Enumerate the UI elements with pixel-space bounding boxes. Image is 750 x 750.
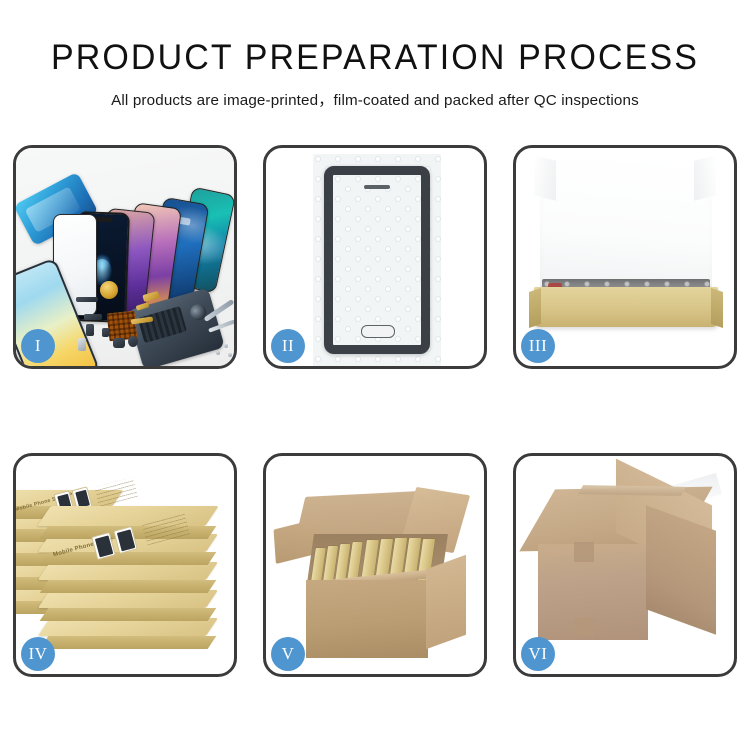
carton-hand-hole-top (574, 542, 594, 562)
screw-icon-1 (224, 344, 228, 348)
box-flap-right (694, 155, 716, 200)
carton-hand-hole-bottom (574, 618, 594, 636)
camera-module-icon (113, 338, 125, 348)
carton-front-face (306, 580, 428, 658)
process-step-panel-1[interactable]: I (13, 145, 237, 369)
step-badge-5: V (271, 637, 305, 671)
flex-cable-icon (76, 297, 98, 302)
screw-icon-3 (228, 353, 232, 357)
page-header: PRODUCT PREPARATION PROCESS All products… (0, 0, 750, 110)
carton-side-face (426, 555, 466, 650)
connector-icon-3 (102, 328, 109, 337)
process-step-panel-6[interactable]: VI (513, 453, 737, 677)
sim-tray-icon (78, 338, 86, 351)
process-step-panel-2[interactable]: II (263, 145, 487, 369)
vibrator-icon (128, 336, 138, 347)
process-step-grid: I II III (13, 145, 737, 677)
phone-screen-assembly-icon (324, 166, 430, 354)
step-badge-2: II (271, 329, 305, 363)
box-white-liner (540, 160, 712, 296)
step-badge-1: I (21, 329, 55, 363)
box-flap-left (534, 155, 556, 200)
page-title: PRODUCT PREPARATION PROCESS (11, 0, 739, 78)
connector-icon-1 (84, 314, 102, 320)
home-button-icon (361, 325, 395, 338)
speaker-coil-icon (100, 281, 118, 299)
step-badge-3: III (521, 329, 555, 363)
step-badge-4: IV (21, 637, 55, 671)
screw-icon-2 (216, 351, 220, 355)
process-step-panel-4[interactable]: Mobile Phone Spare Parts (13, 453, 237, 677)
page-subtitle: All products are image-printed，film-coat… (0, 78, 750, 110)
earpiece-icon (364, 185, 390, 189)
kraft-box-front (534, 287, 718, 327)
connector-icon-2 (86, 324, 94, 336)
carton-tape-seam (578, 485, 686, 496)
step-badge-6: VI (521, 637, 555, 671)
process-step-panel-3[interactable]: III (513, 145, 737, 369)
process-step-panel-5[interactable]: V (263, 453, 487, 677)
